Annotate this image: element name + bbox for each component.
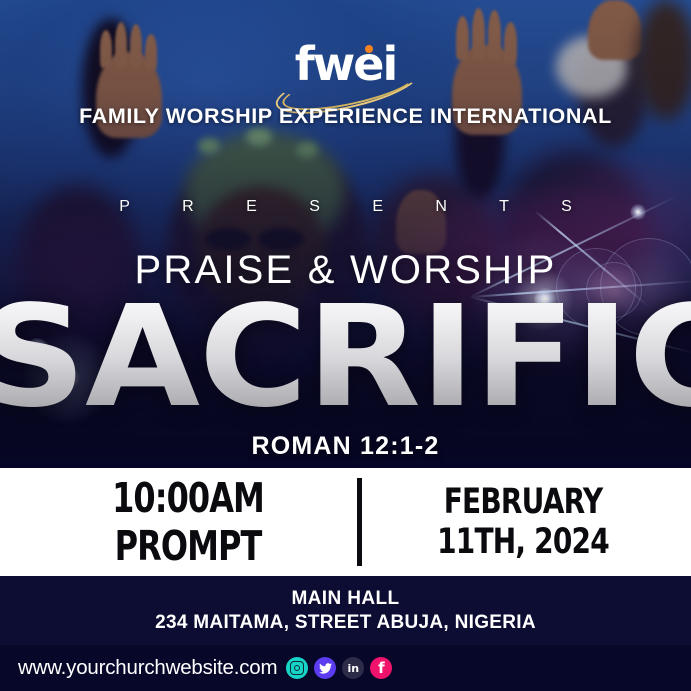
instagram-icon[interactable]	[286, 657, 308, 679]
logo-wordmark: fwei	[271, 40, 421, 88]
facebook-icon[interactable]: f	[370, 657, 392, 679]
brand-logo: fwei	[0, 42, 691, 109]
event-time: 10:00AM PROMPT	[59, 474, 316, 570]
venue-name: MAIN HALL	[291, 588, 399, 610]
presents-label: P R E S E N T S	[0, 198, 691, 216]
facebook-glyph: f	[378, 661, 385, 676]
organization-name: FAMILY WORSHIP EXPERIENCE INTERNATIONAL	[0, 104, 691, 129]
event-flyer: fwei FAMILY WORSHIP EXPERIENCE INTERNATI…	[0, 0, 691, 691]
footer-bar: www.yourchurchwebsite.com in f	[0, 645, 691, 691]
social-links: in f	[286, 657, 392, 679]
event-date-month: FEBRUARY	[407, 482, 639, 522]
time-date-band: 10:00AM PROMPT FEBRUARY 11TH, 2024	[0, 468, 691, 576]
website-url[interactable]: www.yourchurchwebsite.com	[18, 656, 277, 680]
logo-dot-icon	[365, 45, 373, 53]
event-date: FEBRUARY 11TH, 2024	[407, 482, 639, 562]
logo-mark: fwei	[271, 42, 421, 104]
instagram-glyph	[290, 661, 304, 675]
band-divider	[357, 478, 362, 566]
venue-address: 234 MAITAMA, STREET ABUJA, NIGERIA	[155, 612, 536, 634]
scripture-reference: ROMAN 12:1-2	[0, 432, 691, 461]
twitter-icon[interactable]	[314, 657, 336, 679]
event-title: SACRIFICE	[0, 288, 691, 428]
twitter-bird-glyph	[319, 663, 332, 674]
event-date-day-year: 11TH, 2024	[407, 522, 639, 562]
linkedin-glyph: in	[348, 663, 360, 674]
linkedin-icon[interactable]: in	[342, 657, 364, 679]
venue-band: MAIN HALL 234 MAITAMA, STREET ABUJA, NIG…	[0, 576, 691, 645]
